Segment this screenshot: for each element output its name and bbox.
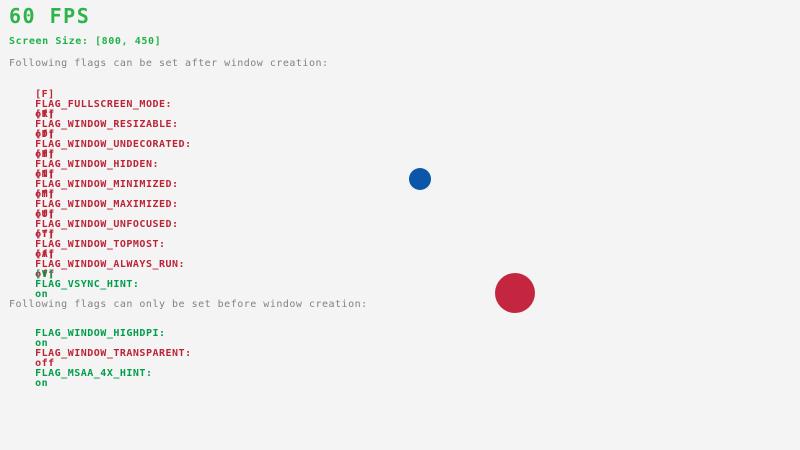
flag-name: FLAG_MSAA_4X_HINT: [35,368,152,379]
flag-name: FLAG_VSYNC_HINT: [35,279,139,290]
fps-counter: 60 FPS [9,6,90,26]
app-window: 60 FPS Screen Size: [800, 450] Following… [0,0,800,450]
creation-flags-heading: Following flags can only be set before w… [9,300,368,310]
flag-state: on [35,378,48,389]
flag-row-msaa-4x-hint: FLAG_MSAA_4X_HINT: on [9,359,152,399]
red-ball-shape [495,273,535,313]
blue-ball-shape [409,168,431,190]
screen-size-label: Screen Size: [800, 450] [9,37,161,47]
flag-name: FLAG_WINDOW_HIGHDPI: [35,328,165,339]
runtime-flags-heading: Following flags can be set after window … [9,59,329,69]
flag-name: FLAG_WINDOW_TRANSPARENT: [35,348,192,359]
